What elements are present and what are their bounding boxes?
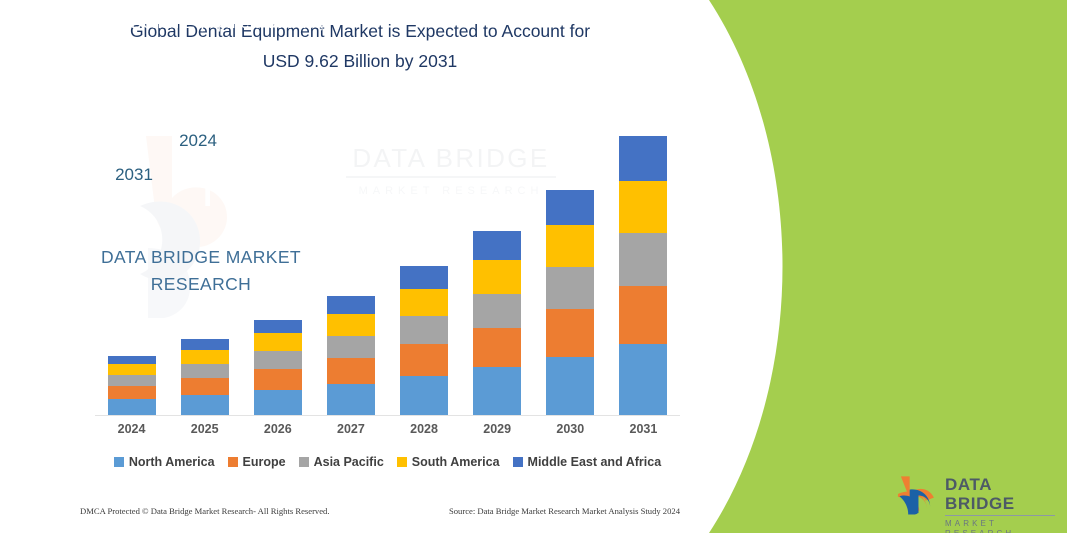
hexagon-right-label: 2024 xyxy=(179,131,217,150)
bar-2024 xyxy=(108,356,156,415)
bar-segment xyxy=(254,390,302,415)
footer-copyright: DMCA Protected © Data Bridge Market Rese… xyxy=(80,506,330,516)
bar-2029 xyxy=(473,231,521,415)
x-axis-tick-2029: 2029 xyxy=(461,422,534,436)
bar-2030 xyxy=(546,190,594,415)
bar-segment xyxy=(473,260,521,294)
bar-segment xyxy=(546,309,594,357)
legend-label: South America xyxy=(412,455,500,469)
x-axis-labels: 20242025202620272028202920302031 xyxy=(95,422,680,436)
bar-segment xyxy=(108,399,156,415)
x-axis-tick-2030: 2030 xyxy=(534,422,607,436)
bar-2028 xyxy=(400,266,448,415)
legend-item[interactable]: North America xyxy=(114,455,215,469)
bar-segment xyxy=(181,350,229,364)
bar-2031 xyxy=(619,136,667,415)
bar-2026 xyxy=(254,320,302,415)
panel-brand-line-1: DATA BRIDGE MARKET xyxy=(22,244,380,271)
bar-segment xyxy=(254,320,302,334)
brand-logo: DATA BRIDGE MARKET RESEARCH xyxy=(895,470,1055,518)
bar-segment xyxy=(327,296,375,313)
legend-label: North America xyxy=(129,455,215,469)
brand-logo-tagline: MARKET RESEARCH xyxy=(945,519,1055,533)
bar-segment xyxy=(108,386,156,399)
data-bridge-logo-icon xyxy=(895,472,939,516)
hexagon-badges: 2031 2024 xyxy=(0,96,380,206)
legend-swatch-icon xyxy=(397,457,407,467)
x-axis-line xyxy=(95,415,680,416)
x-axis-tick-2026: 2026 xyxy=(241,422,314,436)
x-axis-tick-2024: 2024 xyxy=(95,422,168,436)
green-panel-shape xyxy=(687,0,1067,533)
bar-segment xyxy=(473,294,521,329)
bar-segment xyxy=(108,356,156,364)
bar-segment xyxy=(181,364,229,378)
bar-column xyxy=(607,110,680,415)
legend-label: Middle East and Africa xyxy=(528,455,662,469)
bar-segment xyxy=(619,344,667,415)
bar-2025 xyxy=(181,339,229,415)
hexagon-left-label: 2031 xyxy=(115,165,153,184)
legend-swatch-icon xyxy=(114,457,124,467)
bar-segment xyxy=(181,378,229,395)
bar-segment xyxy=(327,384,375,415)
x-axis-tick-2028: 2028 xyxy=(388,422,461,436)
x-axis-tick-2031: 2031 xyxy=(607,422,680,436)
bar-segment xyxy=(546,190,594,225)
chart-legend: North AmericaEuropeAsia PacificSouth Ame… xyxy=(95,455,680,469)
bar-2027 xyxy=(327,296,375,415)
panel-title-line-2: By Regions, 2024 to 2031 xyxy=(22,37,380,64)
legend-swatch-icon xyxy=(513,457,523,467)
legend-swatch-icon xyxy=(299,457,309,467)
legend-item[interactable]: Europe xyxy=(228,455,286,469)
bar-segment xyxy=(400,316,448,344)
footer: DMCA Protected © Data Bridge Market Rese… xyxy=(80,506,680,516)
bar-segment xyxy=(108,364,156,375)
bar-segment xyxy=(181,395,229,415)
infographic-canvas: Global Dental Equipment Market is Expect… xyxy=(0,0,1067,533)
bar-segment xyxy=(473,231,521,259)
footer-source: Source: Data Bridge Market Research Mark… xyxy=(449,506,680,516)
panel-brand-text: DATA BRIDGE MARKET RESEARCH xyxy=(0,244,380,298)
legend-label: Asia Pacific xyxy=(314,455,384,469)
bar-segment xyxy=(619,233,667,286)
bar-segment xyxy=(619,136,667,181)
bar-segment xyxy=(254,369,302,390)
x-axis-tick-2025: 2025 xyxy=(168,422,241,436)
right-green-panel xyxy=(687,0,1067,533)
bar-segment xyxy=(473,367,521,415)
bar-segment xyxy=(619,181,667,233)
bar-segment xyxy=(400,344,448,376)
legend-label: Europe xyxy=(243,455,286,469)
bar-column xyxy=(534,110,607,415)
bar-segment xyxy=(327,336,375,358)
bar-segment xyxy=(400,289,448,316)
x-axis-tick-2027: 2027 xyxy=(314,422,387,436)
bar-segment xyxy=(546,357,594,415)
bar-segment xyxy=(327,358,375,384)
hexagon-left-shape xyxy=(208,142,285,206)
bar-segment xyxy=(619,286,667,345)
brand-logo-name: DATA BRIDGE xyxy=(945,475,1055,516)
bar-segment xyxy=(473,328,521,367)
panel-title: Global Dental Equipment Market, By Regio… xyxy=(0,10,380,64)
bar-column xyxy=(388,110,461,415)
panel-title-line-1: Global Dental Equipment Market, xyxy=(22,10,380,37)
bar-segment xyxy=(254,351,302,369)
bar-segment xyxy=(546,225,594,267)
bar-segment xyxy=(400,266,448,288)
legend-swatch-icon xyxy=(228,457,238,467)
bar-segment xyxy=(327,314,375,336)
legend-item[interactable]: Asia Pacific xyxy=(299,455,384,469)
panel-brand-line-2: RESEARCH xyxy=(22,271,380,298)
bar-column xyxy=(461,110,534,415)
brand-logo-wordmark: DATA BRIDGE MARKET RESEARCH xyxy=(945,475,1055,533)
legend-item[interactable]: Middle East and Africa xyxy=(513,455,662,469)
bar-segment xyxy=(400,376,448,415)
bar-segment xyxy=(546,267,594,310)
bar-segment xyxy=(108,375,156,387)
hexagon-pair-icon: 2031 2024 xyxy=(0,96,380,206)
bar-segment xyxy=(181,339,229,350)
bar-segment xyxy=(254,333,302,350)
legend-item[interactable]: South America xyxy=(397,455,500,469)
